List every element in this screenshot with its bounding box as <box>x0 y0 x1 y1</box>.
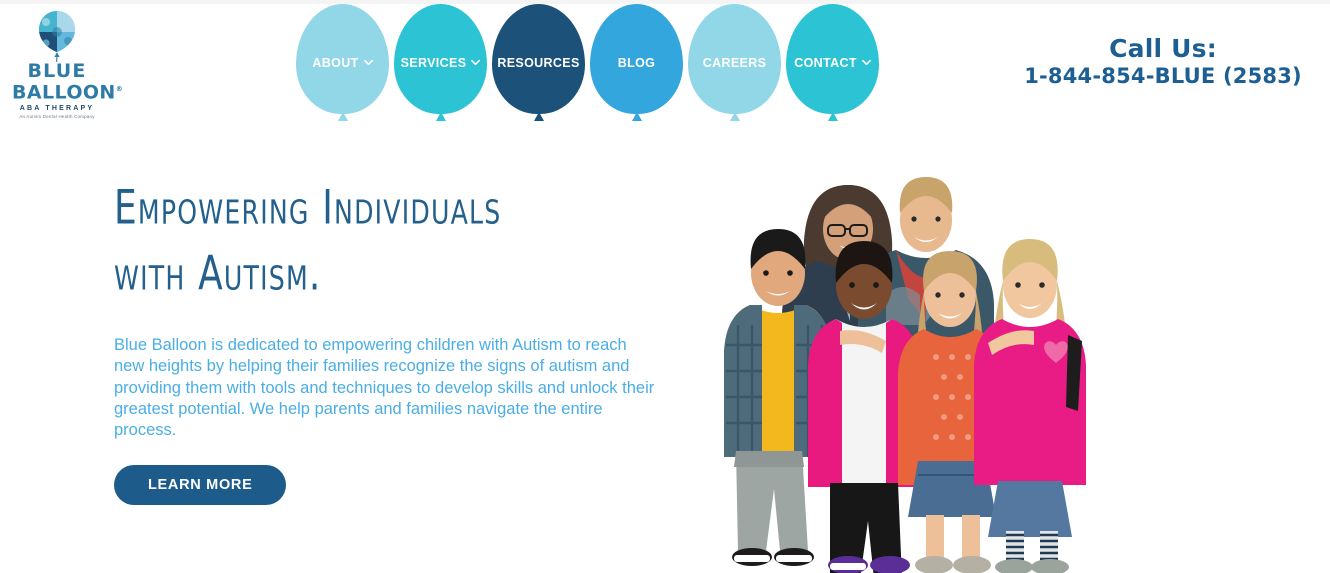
nav-item-blog[interactable]: BLOG <box>590 4 683 128</box>
balloon-knot <box>730 112 740 121</box>
hero-paragraph: Blue Balloon is dedicated to empowering … <box>114 335 659 441</box>
nav-text: BLOG <box>618 56 656 70</box>
hero-title-line-2: with Autism. <box>114 241 674 307</box>
logo-subtitle: ABA THERAPY <box>12 104 102 113</box>
call-us-label: Call Us: <box>1018 34 1308 63</box>
nav-text: CONTACT <box>794 56 857 70</box>
nav-item-about[interactable]: ABOUT <box>296 4 389 128</box>
nav-label: SERVICES <box>401 56 481 70</box>
logo-text-blue: BLUE <box>12 63 102 80</box>
nav-text: SERVICES <box>401 56 467 70</box>
balloon-knot <box>632 112 642 121</box>
nav-item-resources[interactable]: RESOURCES <box>492 4 585 128</box>
registered-mark: ® <box>116 85 123 93</box>
nav-label: ABOUT <box>312 56 372 70</box>
chevron-down-icon <box>862 58 871 67</box>
nav-label: CAREERS <box>703 56 767 70</box>
main-navigation: ABOUT SERVICES RESOURCES BLOG <box>296 4 879 135</box>
hero-title-line-1: Empowering Individuals <box>114 175 674 241</box>
chevron-down-icon <box>364 58 373 67</box>
children-group-photo <box>700 145 1120 573</box>
logo-tagline: An Autism Dental Health Company <box>14 113 100 120</box>
chevron-down-icon <box>471 58 480 67</box>
site-logo[interactable]: BLUE BALLOON® ABA THERAPY An Autism Dent… <box>12 8 102 128</box>
nav-label: CONTACT <box>794 56 871 70</box>
hero-copy: Empowering Individuals with Autism. Blue… <box>114 175 674 505</box>
page-title: Empowering Individuals with Autism. <box>114 175 674 307</box>
hero-section: Empowering Individuals with Autism. Blue… <box>0 135 1330 573</box>
balloon-knot <box>534 112 544 121</box>
balloon-knot <box>828 112 838 121</box>
call-us-block: Call Us: 1-844-854-BLUE (2583) <box>1018 34 1308 89</box>
balloon-knot <box>338 112 348 121</box>
learn-more-button[interactable]: LEARN MORE <box>114 465 286 505</box>
nav-label: BLOG <box>618 56 656 70</box>
phone-number-link[interactable]: 1-844-854-BLUE (2583) <box>1024 64 1302 88</box>
nav-text: ABOUT <box>312 56 358 70</box>
nav-label: RESOURCES <box>497 56 579 70</box>
nav-item-careers[interactable]: CAREERS <box>688 4 781 128</box>
nav-item-contact[interactable]: CONTACT <box>786 4 879 128</box>
puzzle-balloon-icon <box>34 10 80 62</box>
logo-text-balloon: BALLOON® <box>12 80 102 102</box>
site-header: BLUE BALLOON® ABA THERAPY An Autism Dent… <box>0 4 1330 135</box>
nav-text: RESOURCES <box>497 56 579 70</box>
nav-text: CAREERS <box>703 56 767 70</box>
hero-photo <box>700 145 1120 573</box>
nav-item-services[interactable]: SERVICES <box>394 4 487 128</box>
balloon-knot <box>436 112 446 121</box>
